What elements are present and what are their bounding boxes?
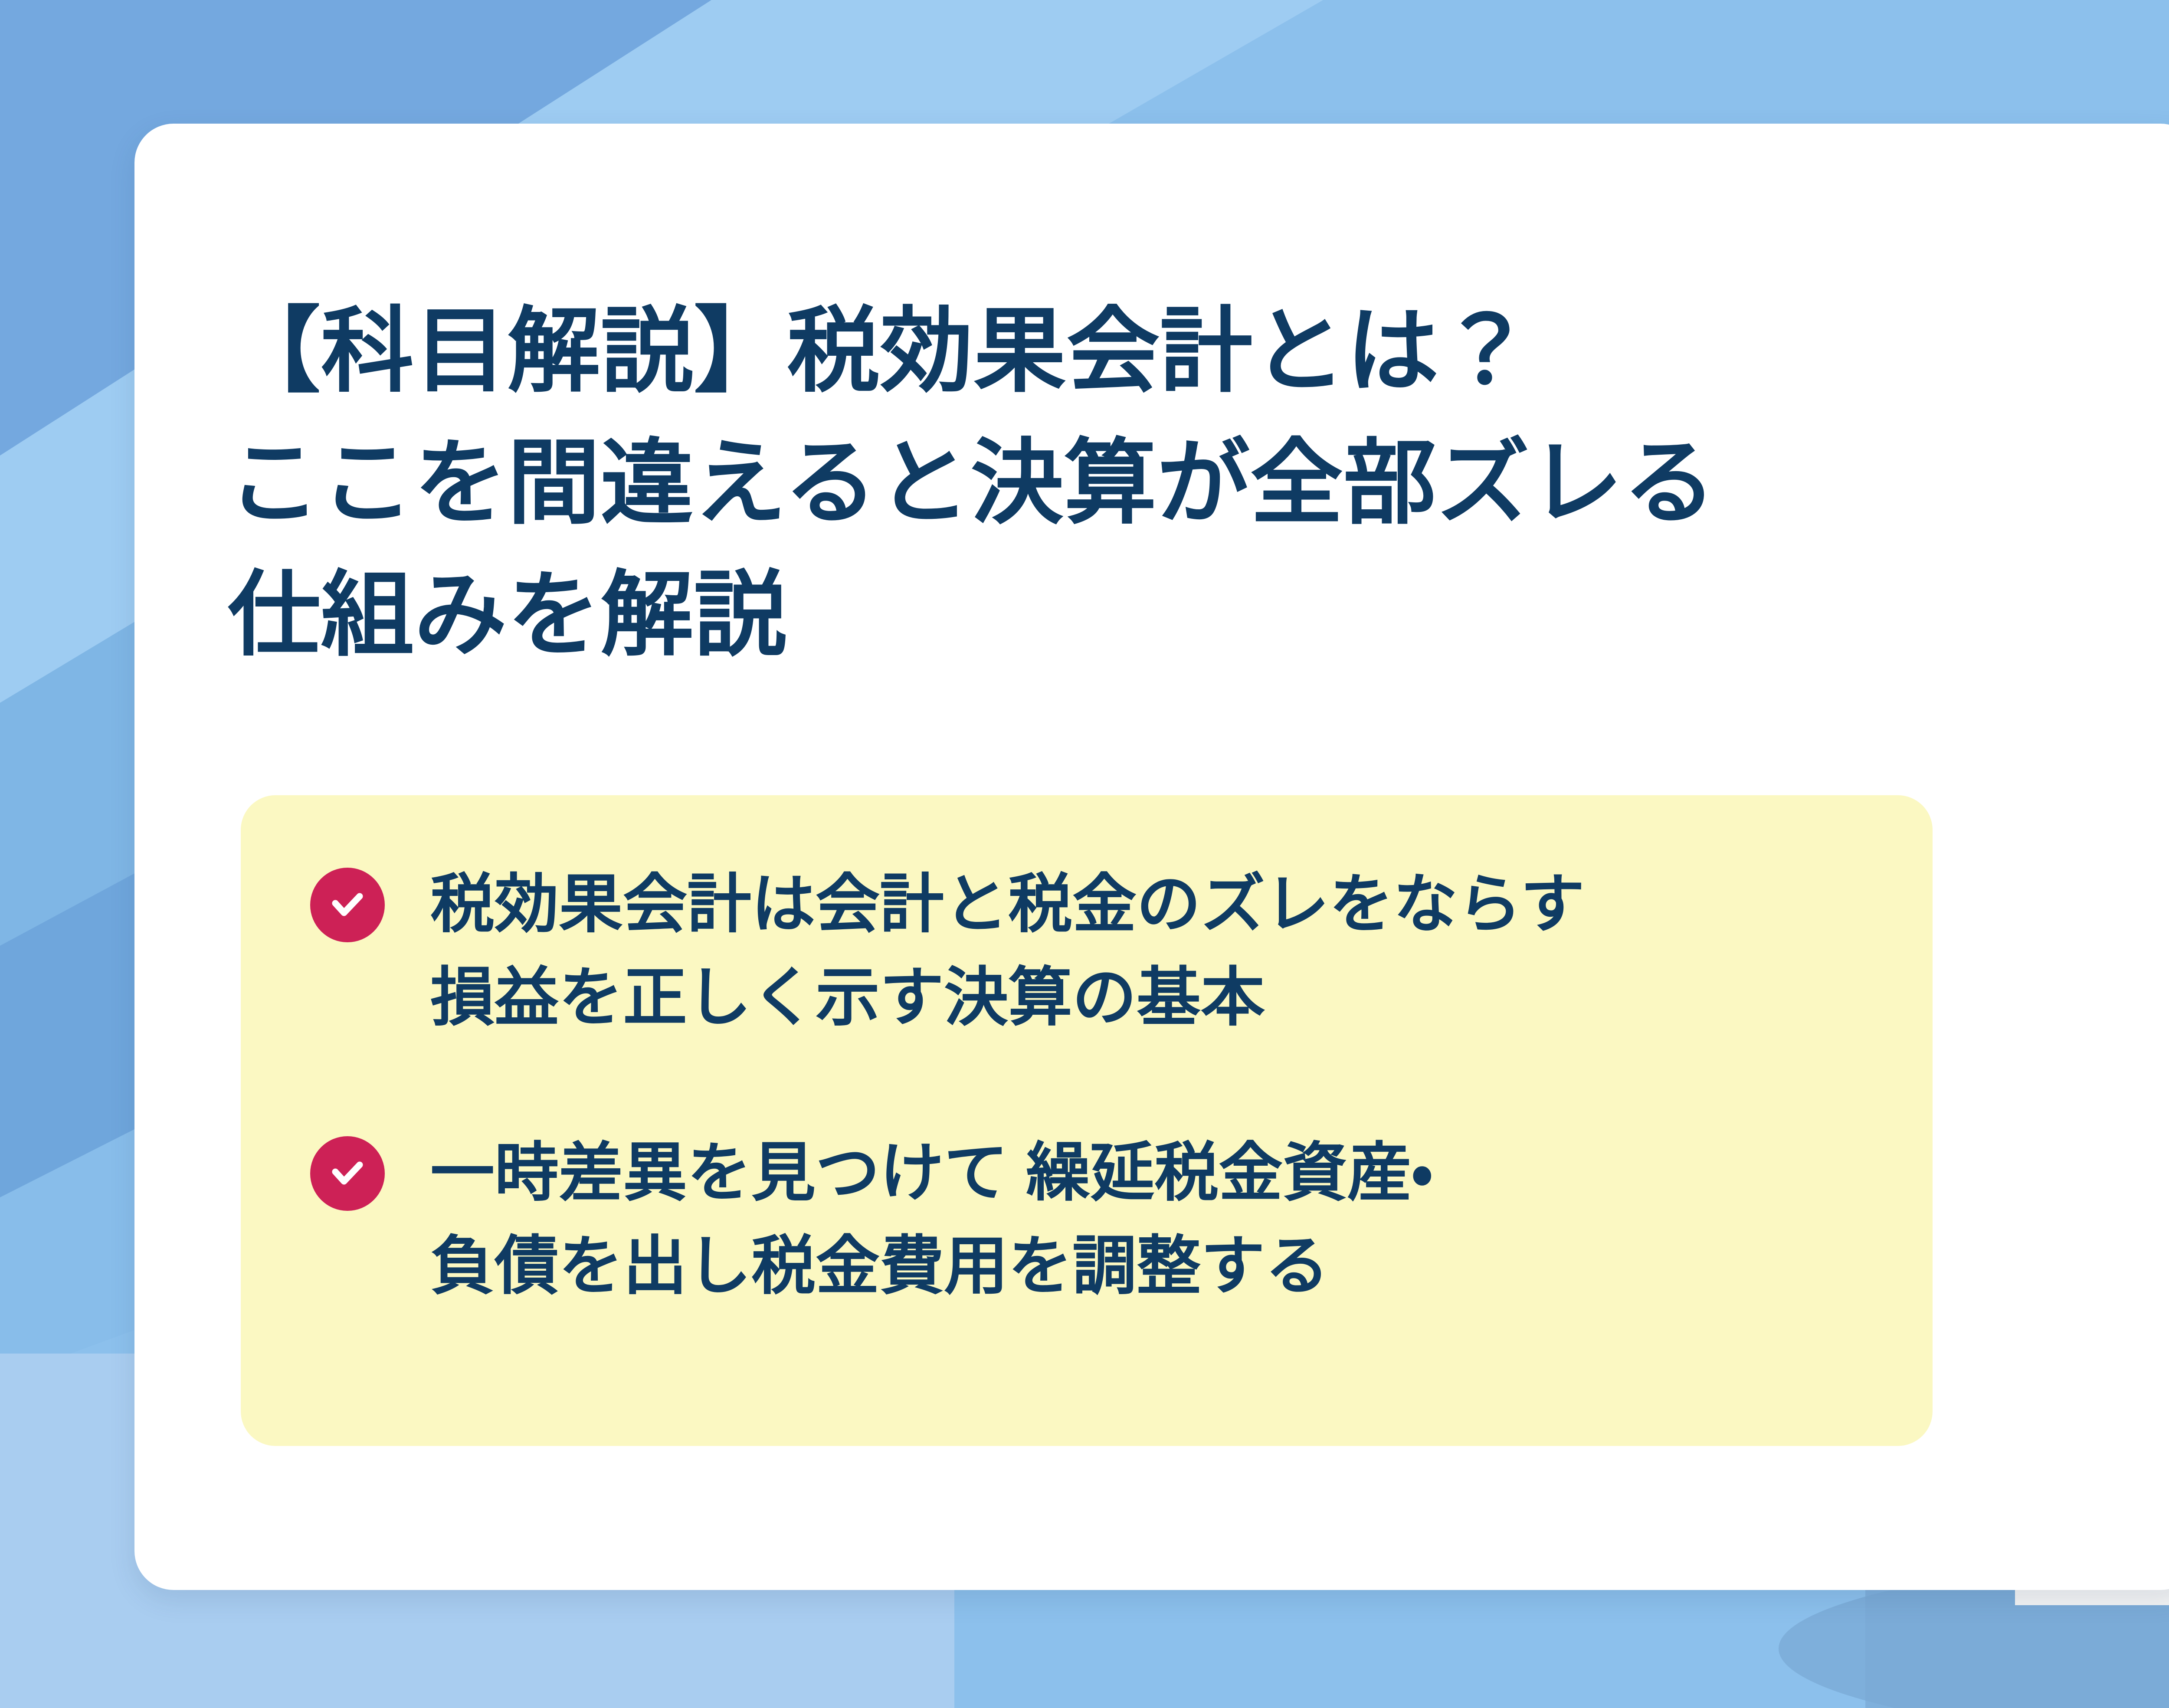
content-card: 【科目解説】税効果会計とは？ ここを間違えると決算が全部ズレる 仕組みを解説 税… — [134, 124, 2169, 1590]
bullet-text: 税効果会計は会計と税金のズレをならす 損益を正しく示す決算の基本 — [430, 858, 1585, 1044]
poster-stage: 【科目解説】税効果会計とは？ ここを間違えると決算が全部ズレる 仕組みを解説 税… — [0, 0, 2169, 1708]
bullet-text: 一時差異を見つけて 繰延税金資産・ 負債を出し税金費用を調整する — [430, 1127, 1433, 1313]
list-item: 税効果会計は会計と税金のズレをならす 損益を正しく示す決算の基本 — [310, 858, 1881, 1044]
highlight-panel: 税効果会計は会計と税金のズレをならす 損益を正しく示す決算の基本 一時差異を見つ… — [241, 795, 1933, 1446]
check-circle-icon — [310, 868, 385, 942]
page-title: 【科目解説】税効果会計とは？ ここを間違えると決算が全部ズレる 仕組みを解説 — [228, 285, 2158, 681]
check-circle-icon — [310, 1136, 385, 1211]
list-item: 一時差異を見つけて 繰延税金資産・ 負債を出し税金費用を調整する — [310, 1127, 1881, 1313]
bullet-list: 税効果会計は会計と税金のズレをならす 損益を正しく示す決算の基本 一時差異を見つ… — [310, 858, 1881, 1313]
